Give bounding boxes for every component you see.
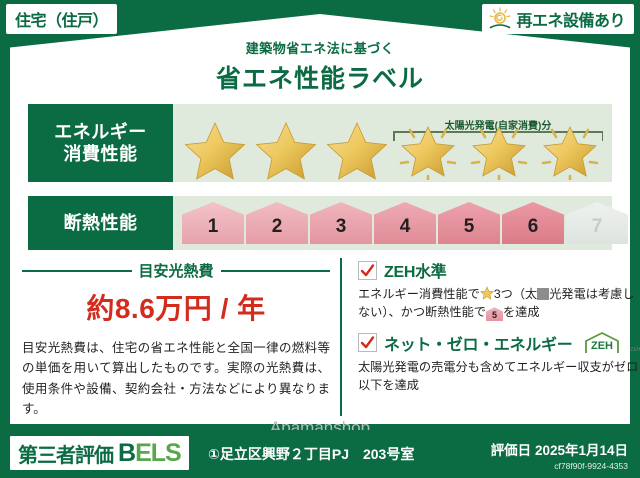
insulation-grade-chip: 6 (502, 202, 564, 244)
inline-chip-number: 5 (492, 310, 497, 320)
insulation-grade-chip: 5 (438, 202, 500, 244)
bels-logo: BELS (118, 439, 181, 468)
energy-performance-row: エネルギー 消費性能 太陽光発電(自家消費)分 (28, 104, 612, 182)
badge-renewable-label: 再エネ設備あり (516, 7, 625, 31)
heading-rule-left (22, 270, 132, 272)
chip-number: 4 (400, 216, 411, 244)
energy-star-solar (465, 118, 533, 180)
zeh-logo-icon: ZEH (582, 331, 622, 355)
badge-renewable-equipment: 再エネ設備あり (482, 4, 634, 34)
energy-star-rating (181, 118, 604, 180)
utility-cost-amount: 約8.6万円 / 年 (22, 287, 330, 327)
title-subtitle: 建築物省エネ法に基づく (0, 38, 640, 57)
bels-logo-els: ELS (135, 439, 181, 467)
chip-number: 5 (464, 216, 475, 244)
zeh-criterion-net-zero: ネット・ゼロ・エネルギー ZEH ZEH 太陽光発電の売電分も含めてエネルギー収… (358, 331, 640, 395)
energy-label-line1: エネルギー (54, 121, 147, 144)
check-icon (358, 261, 377, 280)
energy-star (252, 118, 320, 180)
zeh-desc-part3: を達成 (503, 305, 540, 319)
insulation-grade-chip: 2 (246, 202, 308, 244)
zeh-standard-header: ZEH水準 (358, 258, 640, 282)
footer-bar: 第三者評価 BELS ①足立区興野２丁目PJ 203号室 評価日 2025年1月… (0, 430, 640, 478)
zeh-desc-star-text: 3つ（太 (494, 287, 537, 301)
zeh-net-zero-header: ネット・ゼロ・エネルギー ZEH ZEH (358, 331, 640, 355)
insulation-grade-chip-inactive: 7 (566, 202, 628, 244)
insulation-performance-label: 断熱性能 (28, 196, 173, 250)
zeh-net-zero-description: 太陽光発電の売電分も含めてエネルギー収支がゼロ以下を達成 (358, 358, 640, 395)
energy-star-solar (394, 118, 462, 180)
chip-number: 2 (272, 216, 283, 244)
bels-logo-b: B (118, 439, 135, 467)
inline-grade-chip: 5 (486, 307, 503, 321)
energy-star (323, 118, 391, 180)
zeh-criterion-standard: ZEH水準 エネルギー消費性能で3つ（太光発電は考慮しない）、かつ断熱性能で5を… (358, 258, 640, 322)
energy-label-board: 住宅（住戸） 再エネ設備あり 建築物省エネ法に基づく 省エネ性能ラベル (0, 0, 640, 478)
utility-cost-heading: 目安光熱費 (22, 260, 330, 281)
zeh-standard-title: ZEH水準 (384, 258, 447, 282)
evaluation-info: 評価日 2025年1月14日 cf78f90f-9924-4353 (491, 439, 628, 471)
zeh-criteria-panel: ZEH水準 エネルギー消費性能で3つ（太光発電は考慮しない）、かつ断熱性能で5を… (340, 258, 640, 416)
energy-performance-label: エネルギー 消費性能 (28, 104, 173, 182)
page-title: 建築物省エネ法に基づく 省エネ性能ラベル (0, 38, 640, 95)
energy-performance-body: 太陽光発電(自家消費)分 (173, 104, 612, 182)
check-icon (358, 333, 377, 352)
inline-star-icon (480, 286, 494, 300)
title-main: 省エネ性能ラベル (0, 59, 640, 95)
energy-star (181, 118, 249, 180)
insulation-grade-chip: 3 (310, 202, 372, 244)
insulation-performance-row: 断熱性能 1 2 3 4 (28, 196, 612, 250)
utility-cost-note: 目安光熱費は、住宅の省エネ性能と全国一律の燃料等の単価を用いて算出したものです。… (22, 338, 330, 419)
zeh-logo-subtext: ZEH (630, 347, 640, 355)
property-address: ①足立区興野２丁目PJ 203号室 (208, 444, 414, 464)
bels-plate: 第三者評価 BELS (10, 436, 189, 470)
lower-content: 目安光熱費 約8.6万円 / 年 目安光熱費は、住宅の省エネ性能と全国一律の燃料… (22, 258, 618, 416)
evaluation-code: cf78f90f-9924-4353 (491, 461, 628, 471)
chip-number: 7 (592, 216, 603, 244)
chip-number: 1 (208, 216, 219, 244)
zeh-standard-description: エネルギー消費性能で3つ（太光発電は考慮しない）、かつ断熱性能で5を達成 (358, 285, 640, 322)
insulation-grade-scale: 1 2 3 4 5 (182, 202, 628, 244)
energy-star-solar (536, 118, 604, 180)
utility-cost-heading-text: 目安光熱費 (139, 260, 214, 281)
zeh-desc-part1: エネルギー消費性能で (358, 287, 480, 301)
insulation-grade-chip: 4 (374, 202, 436, 244)
insulation-label-text: 断熱性能 (64, 212, 138, 235)
svg-text:ZEH: ZEH (591, 340, 613, 352)
chip-number: 3 (336, 216, 347, 244)
chip-number: 6 (528, 216, 539, 244)
insulation-performance-body: 1 2 3 4 5 (173, 196, 612, 250)
zeh-net-zero-title: ネット・ゼロ・エネルギー (384, 331, 572, 355)
evaluation-date: 評価日 2025年1月14日 (491, 439, 628, 459)
heading-rule-right (221, 270, 331, 272)
badge-house-type-label: 住宅（住戸） (15, 7, 108, 31)
bels-third-party-label: 第三者評価 (18, 439, 113, 468)
badge-house-type: 住宅（住戸） (6, 4, 117, 34)
utility-cost-panel: 目安光熱費 約8.6万円 / 年 目安光熱費は、住宅の省エネ性能と全国一律の燃料… (22, 258, 340, 416)
insulation-grade-chip: 1 (182, 202, 244, 244)
energy-label-line2: 消費性能 (64, 143, 138, 166)
sun-icon (487, 7, 513, 31)
redacted-character (537, 288, 549, 300)
